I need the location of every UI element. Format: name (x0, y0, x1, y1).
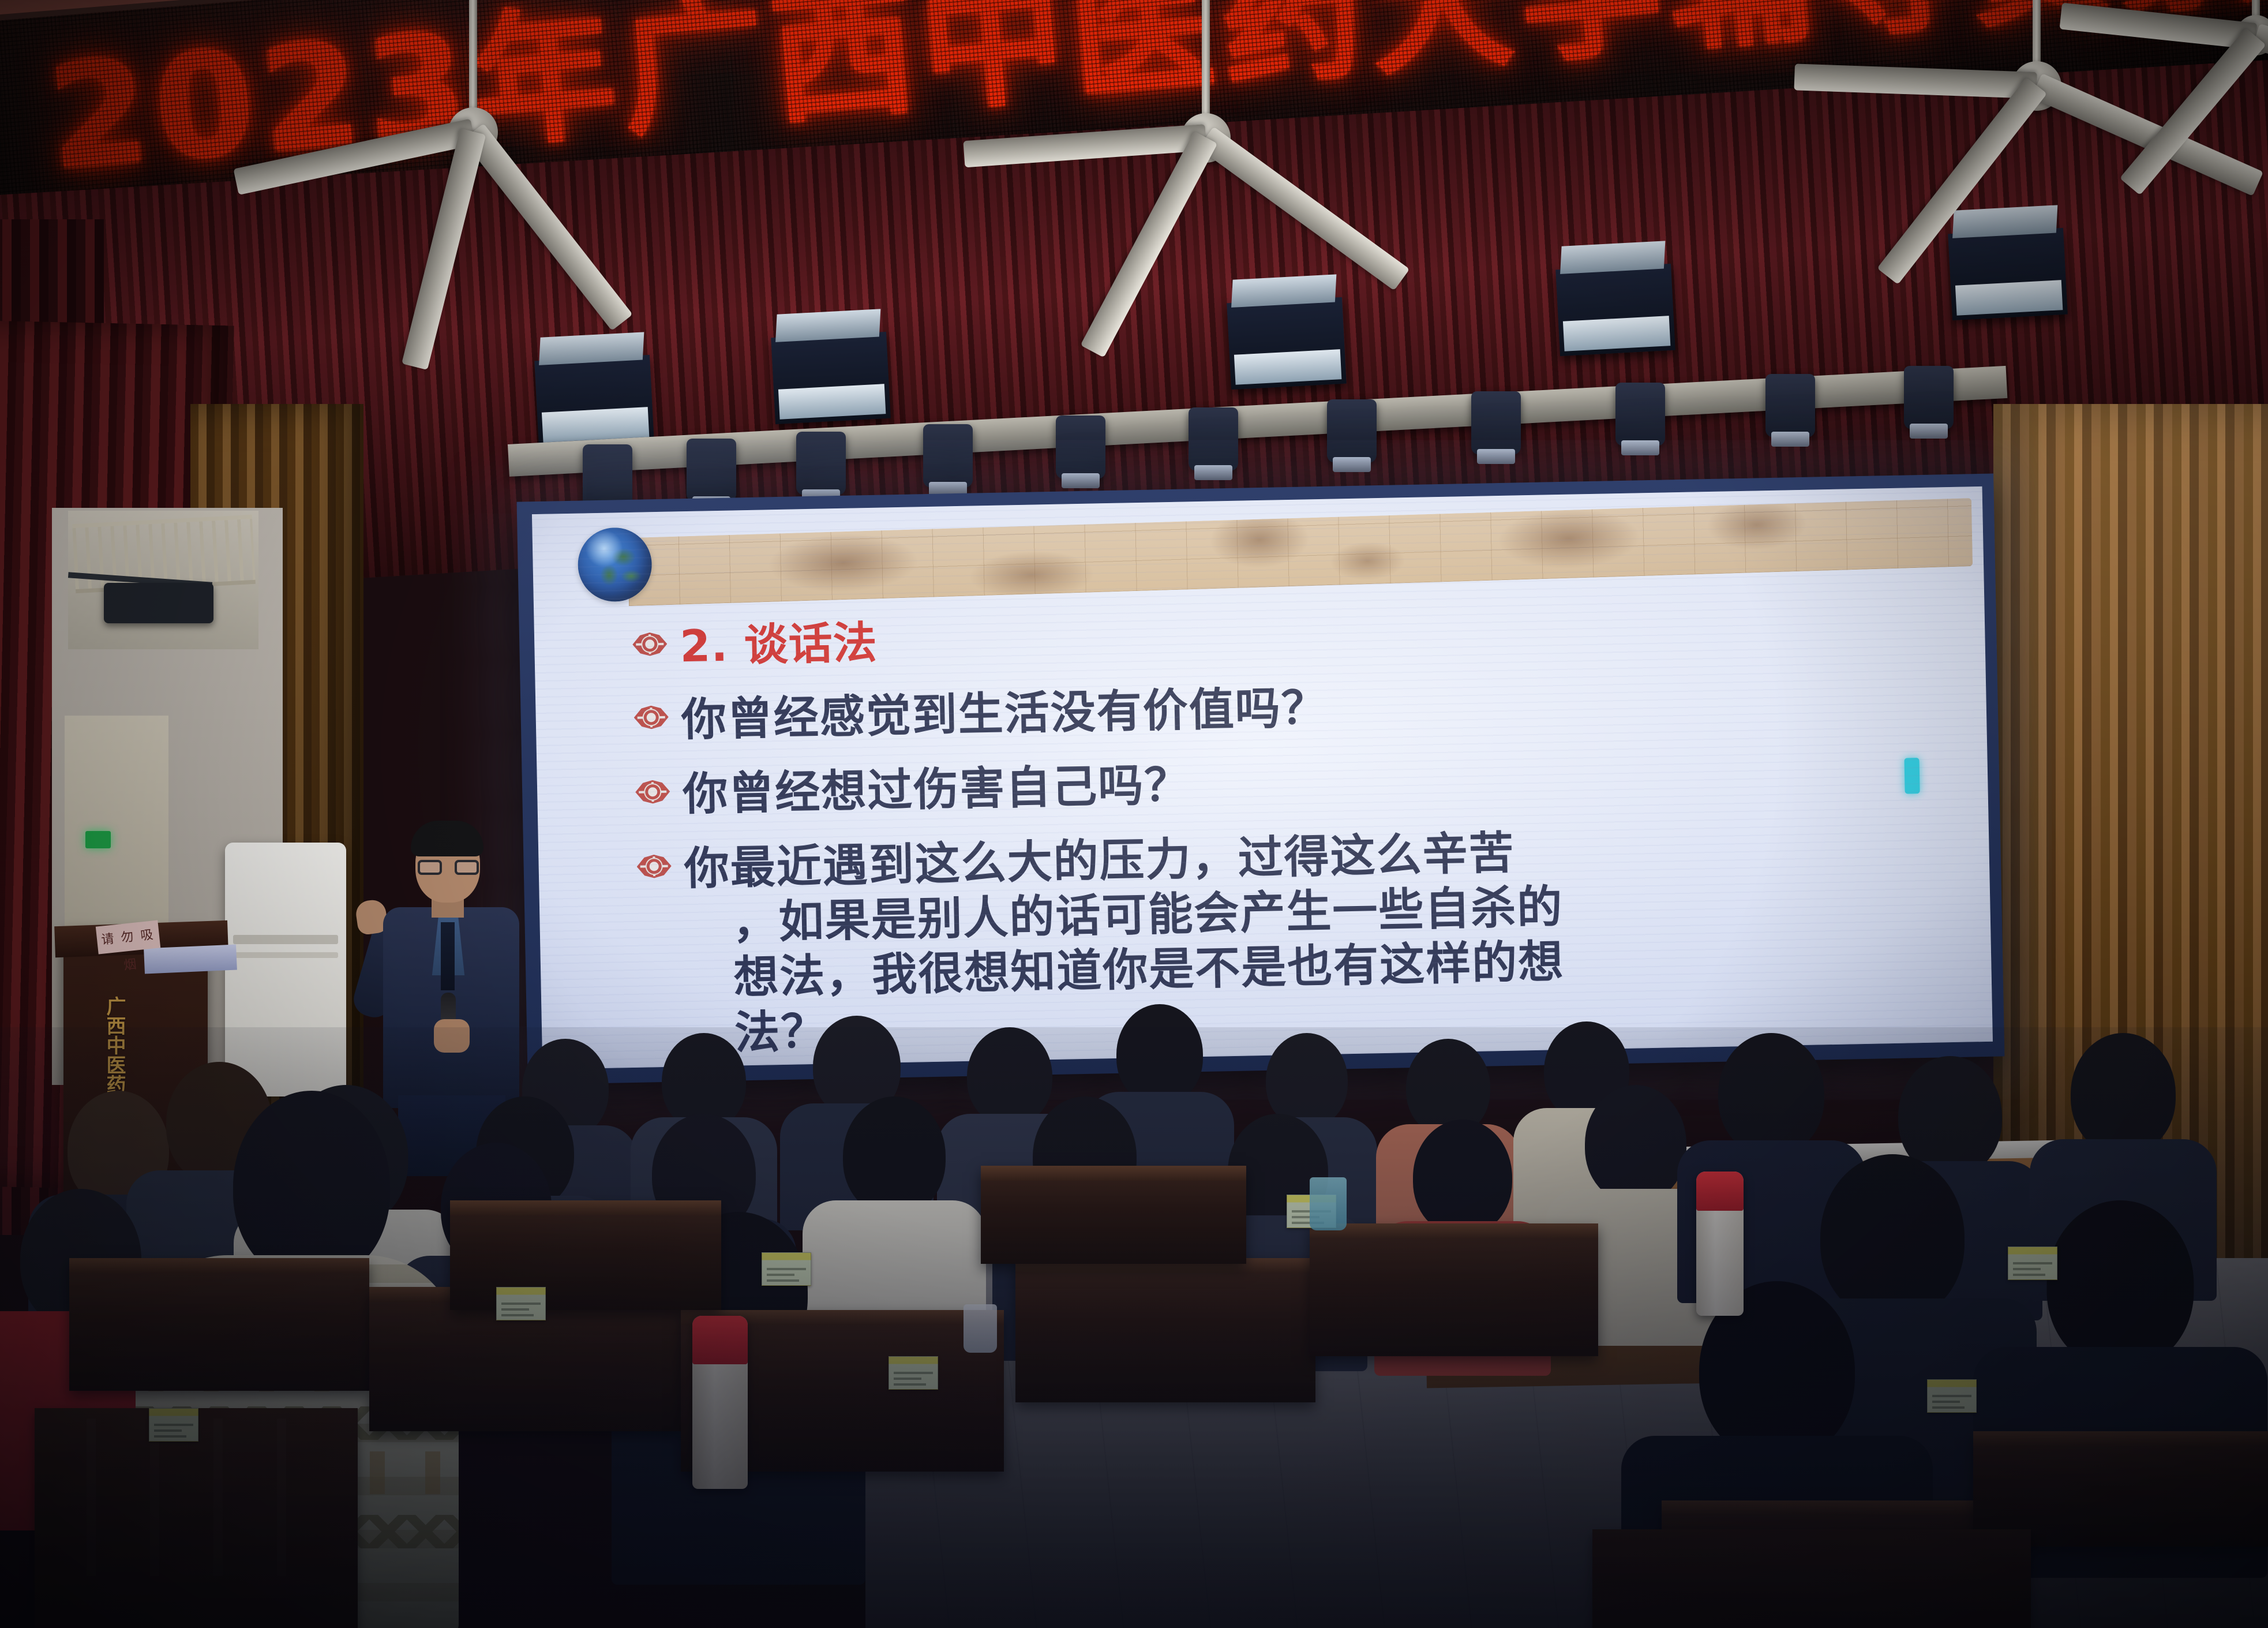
stage-floodlight (534, 355, 654, 447)
spotlight (1471, 391, 1521, 455)
projection-screen: 2. 谈话法 你曾经感觉到生活没有价值吗？ 你曾经想过伤害自己吗？ (532, 486, 1993, 1069)
bullet-marker-icon (632, 631, 668, 658)
ac-vent (233, 935, 338, 944)
slide-bullet-text: 你曾经想过伤害自己吗？ (682, 758, 1191, 822)
stage-floodlight (1555, 264, 1675, 356)
spotlight (1327, 399, 1377, 463)
spotlight (583, 444, 632, 508)
projection-screen-frame: 2. 谈话法 你曾经感觉到生活没有价值吗？ 你曾经想过伤害自己吗？ (517, 474, 2005, 1085)
asset-label (762, 1252, 811, 1286)
lecture-hall-photo: 2023年广西中医药大学辅导员素质能力培训（心理专项） (0, 0, 2268, 1628)
bullet-marker-icon (636, 853, 672, 880)
asset-label (149, 1408, 198, 1442)
desk (450, 1200, 721, 1310)
bullet-marker-icon (635, 779, 670, 806)
exit-sign (85, 831, 111, 848)
spotlight (923, 424, 973, 488)
presenter-tie (441, 922, 455, 990)
slide-body: 2. 谈话法 你曾经感觉到生活没有价值吗？ 你曾经想过伤害自己吗？ (534, 595, 1993, 1069)
spotlight (687, 439, 736, 502)
water-cup (1310, 1177, 1347, 1230)
desk (1015, 1258, 1315, 1402)
spotlight (1189, 407, 1238, 471)
asset-label (889, 1356, 938, 1390)
slide-bullet: 你曾经想过伤害自己吗？ (635, 743, 1953, 824)
ceiling-fan (323, 0, 623, 196)
presenter-cursor-marker (1905, 758, 1920, 794)
water-cup (964, 1304, 997, 1353)
asset-label (2008, 1247, 2057, 1280)
desk (1310, 1223, 1598, 1356)
presenter-hair (411, 821, 483, 856)
ceiling-projector (104, 583, 213, 623)
slide-title: 2. 谈话法 (680, 616, 878, 673)
column-air-conditioner (225, 843, 346, 1096)
desk (69, 1258, 369, 1391)
slide-bullet: 你曾经感觉到生活没有价值吗？ (633, 669, 1952, 749)
desk (981, 1166, 1246, 1264)
thermos-cap (1696, 1172, 1744, 1211)
spotlight (1615, 383, 1665, 446)
thermos-bottle (692, 1316, 748, 1489)
stage-floodlight (1227, 297, 1347, 390)
thermos-cap (692, 1316, 748, 1364)
spotlight (1765, 374, 1815, 437)
ac-vent (233, 952, 338, 958)
bullet-marker-icon (633, 703, 669, 731)
slide-header (532, 497, 1984, 611)
ceiling-fan (1056, 0, 1356, 196)
slide-bullet-text: 你曾经感觉到生活没有价值吗？ (681, 680, 1328, 748)
chair (1592, 1529, 2031, 1628)
slide-bullet: 2. 谈话法 (632, 596, 1951, 675)
podium-side-ledge (144, 945, 237, 974)
ceiling-fan (2129, 0, 2268, 87)
stage-floodlight (1948, 228, 2068, 320)
spotlight (1056, 416, 1105, 479)
thermos-bottle (1696, 1172, 1744, 1316)
spotlight (1904, 366, 1954, 429)
asset-label (1927, 1379, 1977, 1413)
world-map-strip (628, 498, 1973, 606)
asset-label (496, 1287, 546, 1320)
spotlight (796, 432, 846, 495)
eyeglasses-icon (418, 860, 479, 875)
stage-floodlight (771, 332, 891, 424)
presenter-hand (434, 1019, 470, 1053)
